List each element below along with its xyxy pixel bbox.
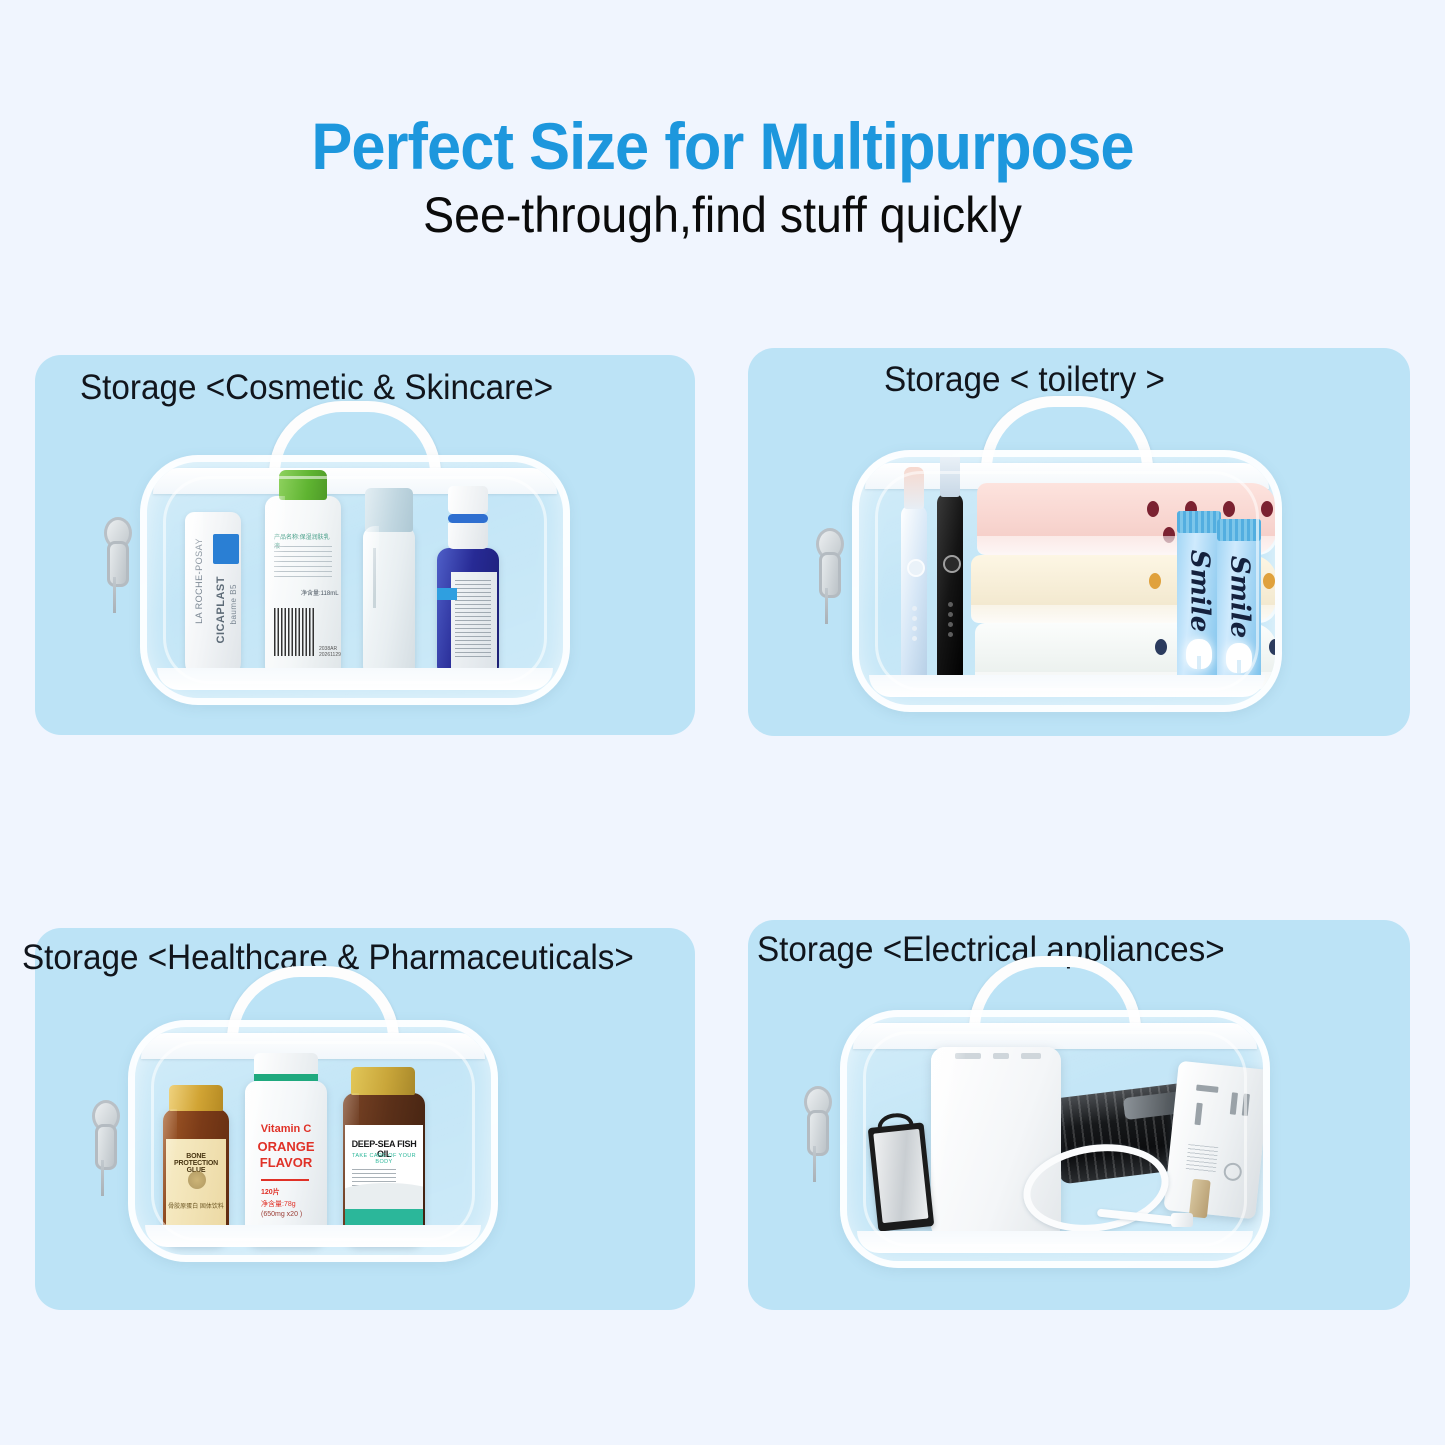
panel-label-toiletry: Storage < toiletry >	[884, 360, 1165, 400]
pouch-healthcare: BONE PROTECTION GLUE 骨胶原蛋白 固体饮料 Vitamin …	[128, 1020, 498, 1262]
zipper-pull-healthcare[interactable]	[88, 1100, 118, 1196]
zipper-pull-cosmetic[interactable]	[100, 517, 130, 613]
pouch-electrical	[840, 1010, 1270, 1268]
panel-label-cosmetic: Storage <Cosmetic & Skincare>	[80, 368, 553, 408]
page-subheadline: See-through,find stuff quickly	[51, 186, 1395, 244]
zipper-pull-toiletry[interactable]	[812, 528, 842, 624]
pouch-body: Smile Smile	[852, 450, 1282, 712]
pouch-body: BONE PROTECTION GLUE 骨胶原蛋白 固体饮料 Vitamin …	[128, 1020, 498, 1262]
zipper-pull-electrical[interactable]	[800, 1086, 830, 1182]
pouch-body: LA ROCHE-POSAY CICAPLAST baume B5 产品名称:保…	[140, 455, 570, 705]
page-headline: Perfect Size for Multipurpose	[51, 108, 1395, 184]
pouch-toiletry: Smile Smile	[852, 450, 1282, 712]
pouch-cosmetic: LA ROCHE-POSAY CICAPLAST baume B5 产品名称:保…	[140, 455, 570, 705]
panel-label-electrical: Storage <Electrical appliances>	[757, 930, 1225, 970]
pouch-body	[840, 1010, 1270, 1268]
